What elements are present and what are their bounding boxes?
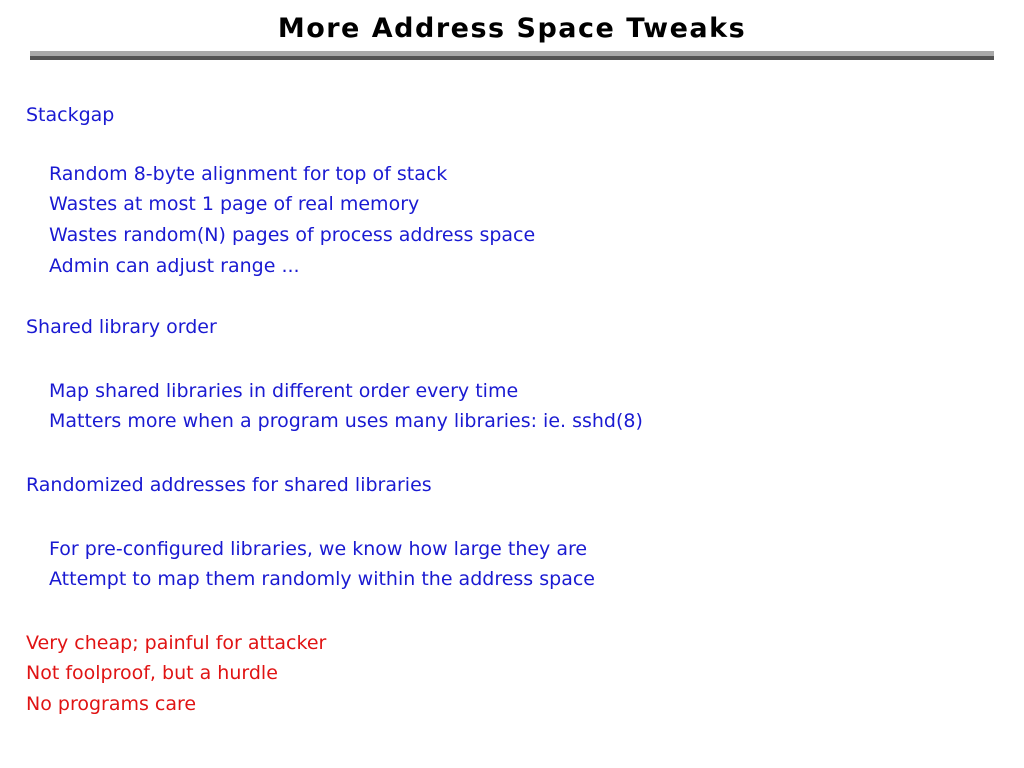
bullet-item: Matters more when a program uses many li… [49,410,643,432]
bullet-item: Admin can adjust range ... [49,255,300,277]
section-heading-shared-library-order: Shared library order [26,316,217,338]
section-heading-randomized-addresses: Randomized addresses for shared librarie… [26,474,432,496]
summary-item: Not foolproof, but a hurdle [26,662,278,684]
bullet-item: Wastes at most 1 page of real memory [49,193,419,215]
bullet-item: Map shared libraries in different order … [49,380,518,402]
slide-canvas: More Address Space Tweaks Stackgap Rando… [0,0,1024,768]
section-heading-stackgap: Stackgap [26,104,114,126]
bullet-item: Wastes random(N) pages of process addres… [49,224,535,246]
slide-body: Stackgap Random 8-byte alignment for top… [0,0,1024,768]
bullet-item: For pre-configured libraries, we know ho… [49,538,587,560]
summary-item: Very cheap; painful for attacker [26,632,326,654]
bullet-item: Attempt to map them randomly within the … [49,568,595,590]
bullet-item: Random 8-byte alignment for top of stack [49,163,447,185]
summary-item: No programs care [26,693,196,715]
